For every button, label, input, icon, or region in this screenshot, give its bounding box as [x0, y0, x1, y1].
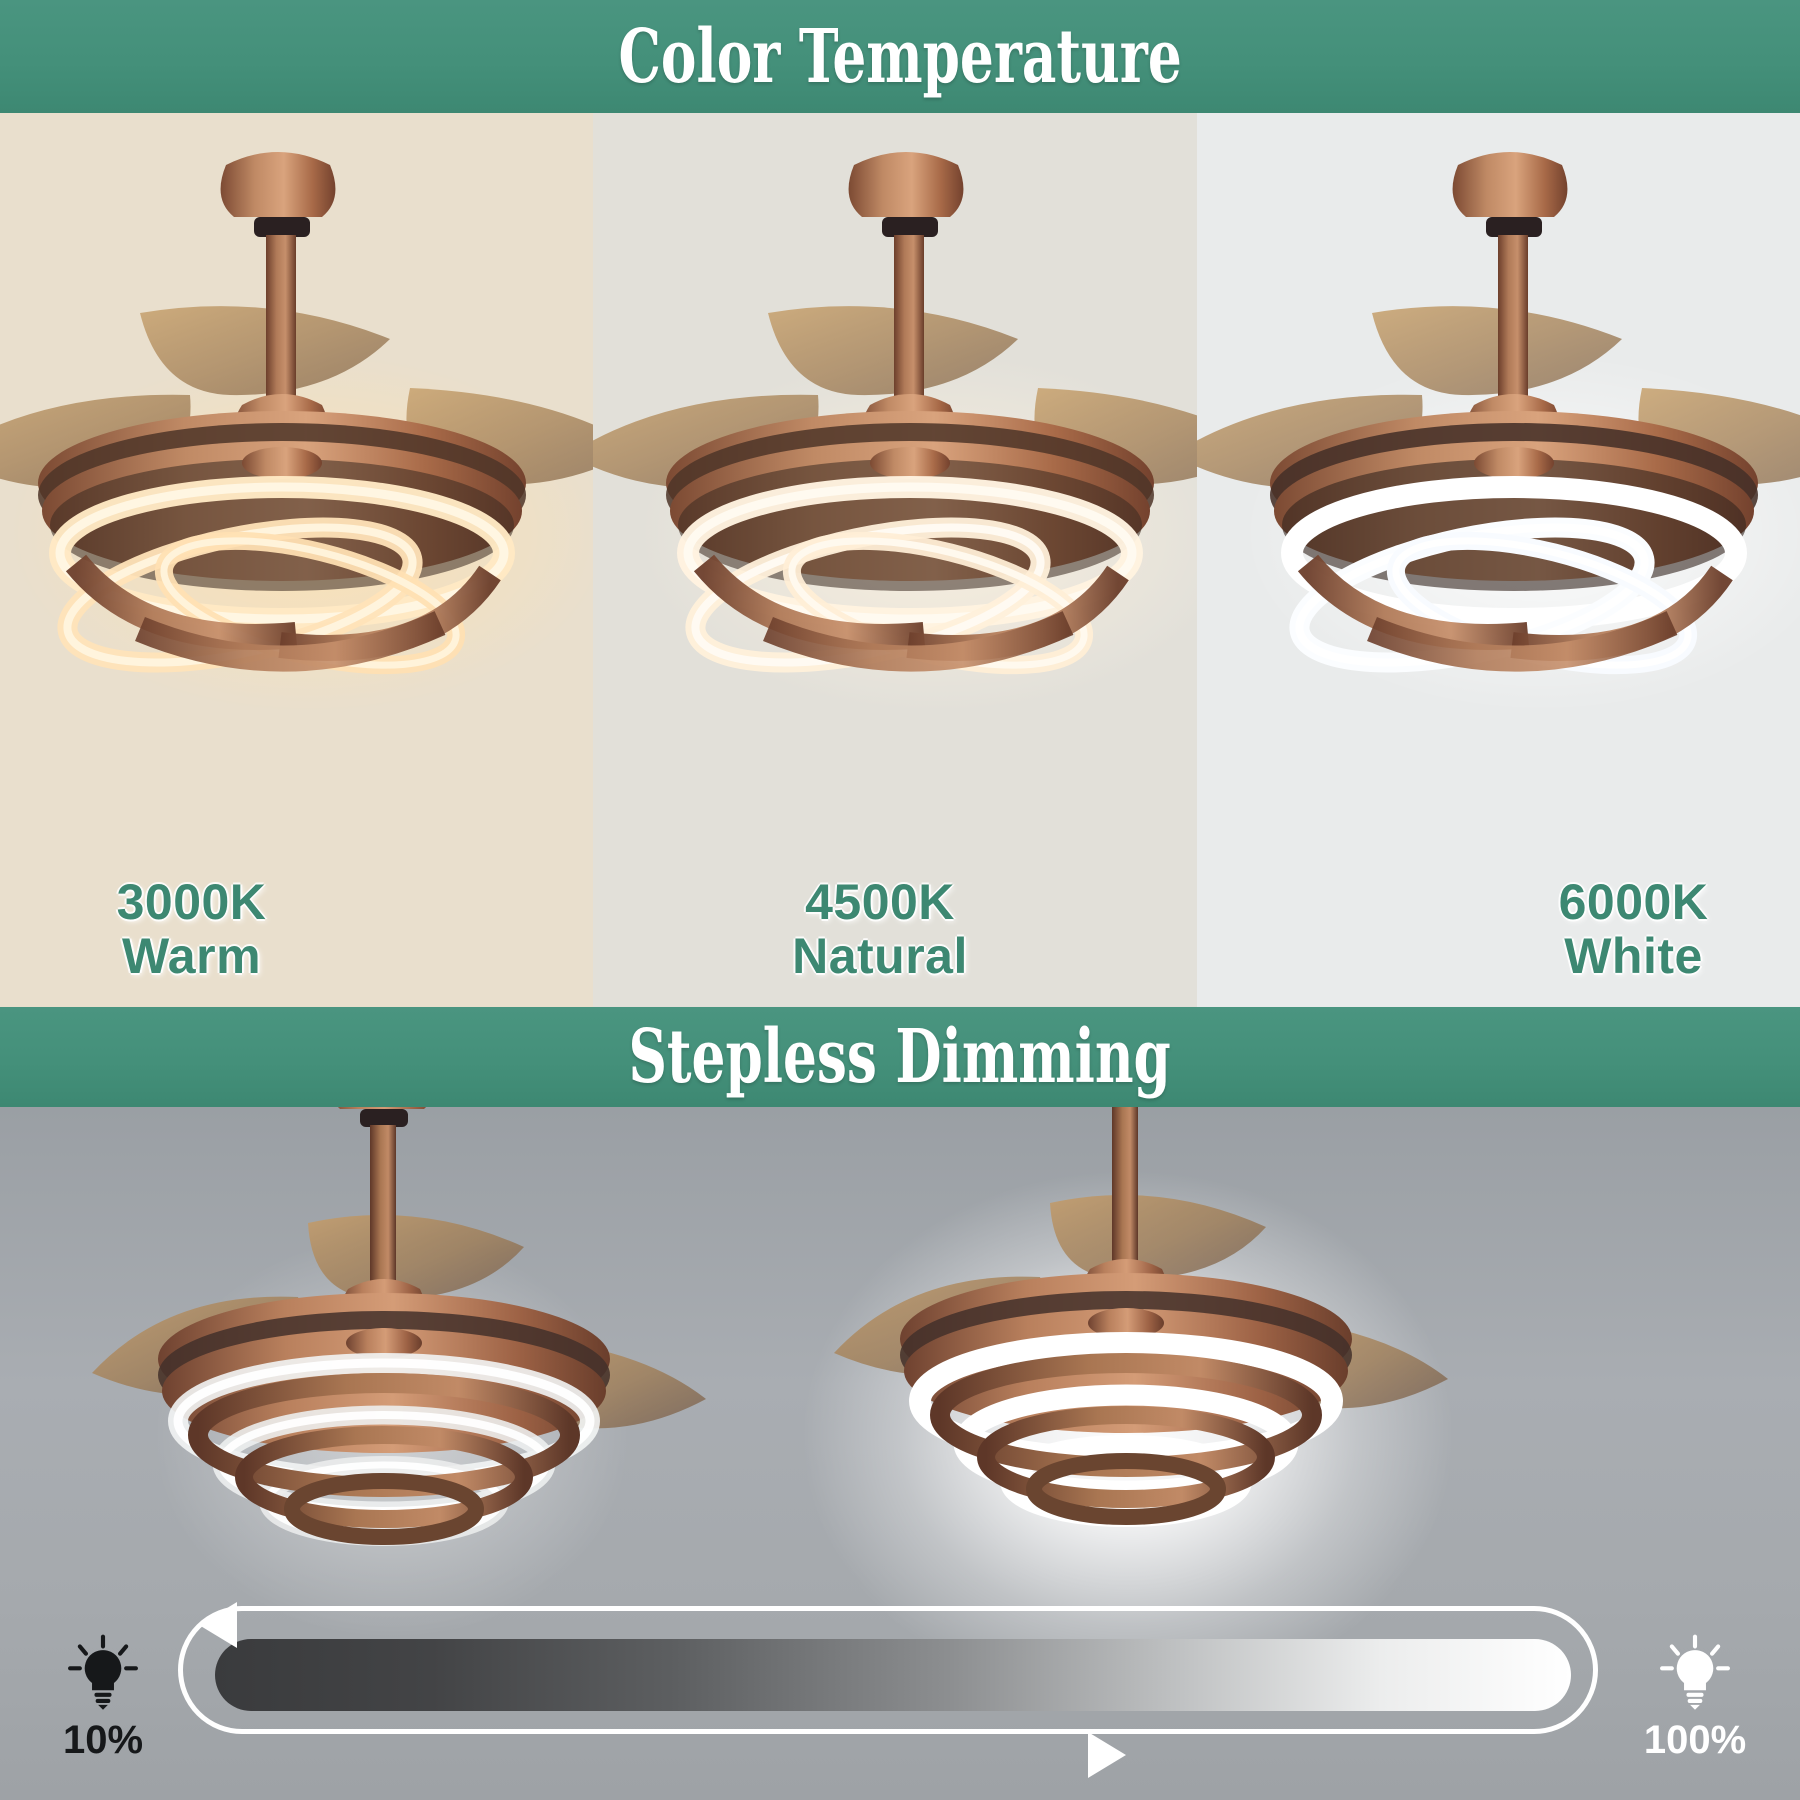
fan-blade [308, 1215, 524, 1299]
dimming-slider-fill[interactable] [215, 1639, 1571, 1711]
color-temperature-panel-3000k: 3000K Warm [0, 113, 593, 1007]
canopy-collar [1486, 217, 1542, 237]
tone-label: Natural [593, 929, 1167, 983]
tone-label: Warm [0, 929, 383, 983]
fixture-hub [1474, 447, 1554, 479]
max-brightness-label: 100% [1610, 1720, 1780, 1760]
caption-4500k: 4500K Natural [593, 875, 1197, 983]
stepless-dimming-header: Stepless Dimming [0, 1007, 1800, 1107]
canopy-collar [882, 217, 938, 237]
fan-fixture-3000k [0, 133, 593, 773]
dimming-slider-row: 10% [0, 1582, 1800, 1772]
color-temperature-section: 3000K Warm [0, 113, 1800, 1007]
fan-fixture-4500k [593, 133, 1197, 773]
downrod [266, 235, 296, 405]
caption-3000k: 3000K Warm [0, 875, 593, 983]
ceiling-canopy [328, 1107, 436, 1109]
light-bulb-icon [1656, 1633, 1734, 1711]
canopy-collar [360, 1109, 408, 1127]
dimming-slider-track[interactable] [178, 1606, 1598, 1734]
infographic-page: Color Temperature [0, 0, 1800, 1800]
stepless-dimming-title: Stepless Dimming [629, 1020, 1171, 1094]
min-brightness-group: 10% [18, 1633, 188, 1760]
color-temperature-header: Color Temperature [0, 0, 1800, 113]
downrod [894, 235, 924, 405]
max-brightness-group: 100% [1610, 1633, 1780, 1760]
downrod [1498, 235, 1528, 405]
ceiling-canopy [221, 152, 336, 217]
ceiling-canopy [849, 152, 964, 217]
dim-high-fixture [790, 1107, 1490, 1647]
color-temperature-panel-6000k: 6000K White [1197, 113, 1800, 1007]
kelvin-label: 6000K [1467, 875, 1800, 929]
kelvin-label: 4500K [593, 875, 1167, 929]
min-brightness-label: 10% [18, 1720, 188, 1760]
stepless-dimming-section: 10% [0, 1107, 1800, 1800]
downrod [370, 1125, 396, 1289]
fixture-hub [870, 447, 950, 479]
color-temperature-panel-4500k: 4500K Natural [593, 113, 1197, 1007]
tone-label: White [1467, 929, 1800, 983]
arrow-left-icon[interactable] [195, 1596, 265, 1654]
arrow-right-icon[interactable] [1060, 1726, 1130, 1784]
light-bulb-icon [64, 1633, 142, 1711]
fixture-hub [242, 447, 322, 479]
caption-6000k: 6000K White [1197, 875, 1800, 983]
canopy-collar [254, 217, 310, 237]
ceiling-canopy [1453, 152, 1568, 217]
color-temperature-title: Color Temperature [618, 20, 1181, 94]
fan-fixture-6000k [1197, 133, 1800, 773]
kelvin-label: 3000K [0, 875, 383, 929]
fan-blade [1050, 1195, 1266, 1279]
downrod [1112, 1107, 1138, 1269]
